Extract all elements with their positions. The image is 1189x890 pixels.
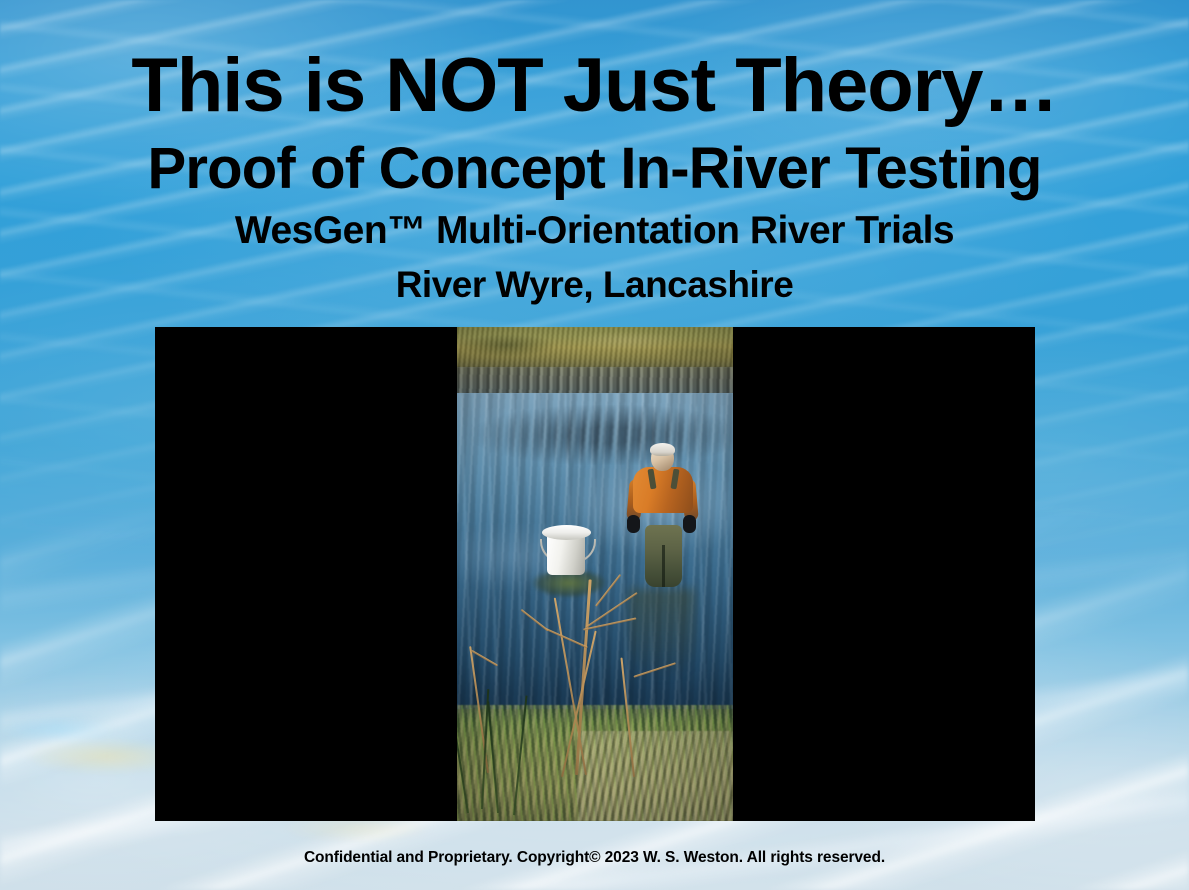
- near-bank-dry-reeds: [577, 731, 733, 821]
- wader-left-glove: [627, 515, 640, 533]
- slide-footer: Confidential and Proprietary. Copyright©…: [0, 849, 1189, 867]
- wader-right-glove: [683, 515, 696, 533]
- white-test-device: [541, 523, 593, 577]
- slide-subtitle-product: WesGen™ Multi-Orientation River Trials: [0, 198, 1189, 250]
- slide-heading-block: This is NOT Just Theory… Proof of Concep…: [0, 0, 1189, 303]
- wader-hair: [650, 443, 675, 456]
- slide-subtitle-location: River Wyre, Lancashire: [0, 250, 1189, 303]
- copyright-notice: Confidential and Proprietary. Copyright©…: [304, 849, 885, 866]
- video-content-area[interactable]: [457, 327, 733, 821]
- person-in-waders: [625, 445, 701, 595]
- embedded-video-frame[interactable]: [155, 327, 1035, 821]
- slide-subtitle-primary: Proof of Concept In-River Testing: [0, 124, 1189, 198]
- presentation-slide: This is NOT Just Theory… Proof of Concep…: [0, 0, 1189, 890]
- wader-water-reflection: [629, 589, 695, 675]
- wader-leg-seam: [662, 545, 665, 587]
- slide-title: This is NOT Just Theory…: [0, 0, 1189, 124]
- device-rim: [542, 525, 591, 540]
